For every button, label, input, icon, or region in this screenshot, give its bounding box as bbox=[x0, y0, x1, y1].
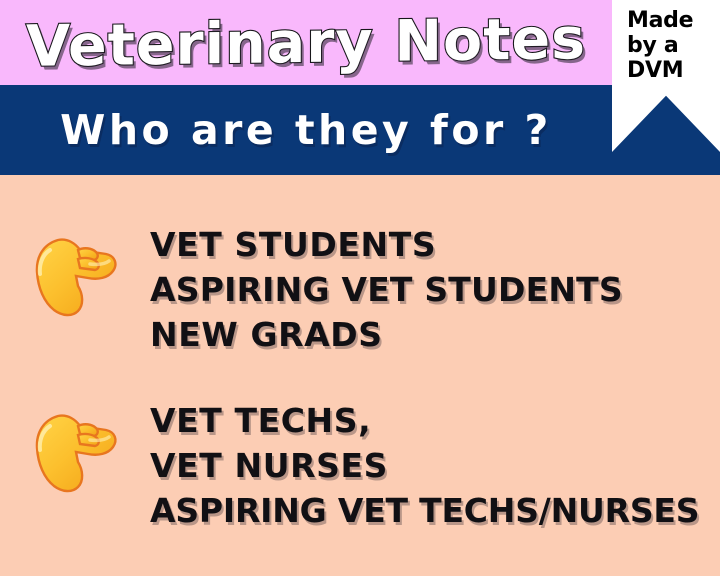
poster-canvas: Veterinary Notes Who are they for ? Made… bbox=[0, 0, 720, 576]
ribbon-line-3: DVM bbox=[627, 58, 720, 83]
pointing-hand-icon bbox=[28, 404, 128, 500]
ribbon-line-2: by a bbox=[627, 33, 720, 58]
audience-line: ASPIRING VET TECHS/NURSES bbox=[150, 488, 699, 533]
poster-subtitle: Who are they for ? bbox=[0, 85, 612, 175]
audience-group-1-lines: VET STUDENTS ASPIRING VET STUDENTS NEW G… bbox=[150, 222, 623, 357]
audience-line: ASPIRING VET STUDENTS bbox=[150, 267, 623, 312]
ribbon-line-1: Made bbox=[627, 8, 720, 33]
audience-line: VET STUDENTS bbox=[150, 222, 623, 267]
audience-group-2: VET TECHS, VET NURSES ASPIRING VET TECHS… bbox=[28, 398, 699, 533]
pointing-hand-icon bbox=[28, 228, 128, 324]
audience-line: VET NURSES bbox=[150, 443, 699, 488]
audience-line: NEW GRADS bbox=[150, 312, 623, 357]
corner-ribbon-label: Made by a DVM bbox=[627, 8, 720, 83]
audience-group-2-lines: VET TECHS, VET NURSES ASPIRING VET TECHS… bbox=[150, 398, 699, 533]
audience-line: VET TECHS, bbox=[150, 398, 699, 443]
audience-group-1: VET STUDENTS ASPIRING VET STUDENTS NEW G… bbox=[28, 222, 623, 357]
page-title: Veterinary Notes bbox=[0, 0, 612, 89]
